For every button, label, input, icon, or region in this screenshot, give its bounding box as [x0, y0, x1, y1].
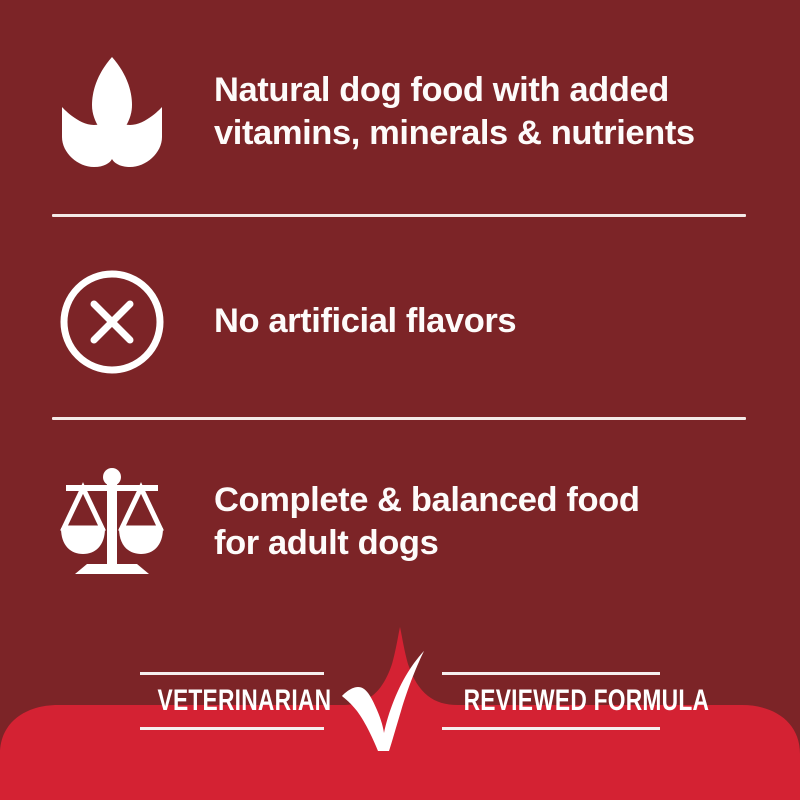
- feature-item-no-artificial-flavors: No artificial flavors: [52, 254, 748, 390]
- feature-item-natural-dog-food: Natural dog food with added vitamins, mi…: [52, 44, 748, 180]
- banner-left-block: VETERINARIAN: [134, 670, 330, 732]
- feature-label: Natural dog food with added vitamins, mi…: [172, 69, 748, 155]
- balance-scale-icon: [52, 457, 172, 587]
- banner-content: VETERINARIAN REVIEWED FORMULA: [0, 602, 800, 800]
- feature-item-complete-balanced: Complete & balanced food for adult dogs: [52, 454, 748, 590]
- product-benefits-panel: Natural dog food with added vitamins, mi…: [0, 0, 800, 800]
- leaf-sprout-icon: [52, 47, 172, 177]
- circle-x-icon: [52, 257, 172, 387]
- veterinarian-reviewed-banner: VETERINARIAN REVIEWED FORMULA: [0, 602, 800, 800]
- feature-label: No artificial flavors: [172, 300, 748, 343]
- checkmark-icon: [340, 646, 426, 756]
- banner-right-block: REVIEWED FORMULA: [436, 670, 666, 732]
- feature-divider: [52, 417, 746, 420]
- feature-label: Complete & balanced food for adult dogs: [172, 479, 748, 565]
- feature-divider: [52, 214, 746, 217]
- banner-left-label: VETERINARIAN: [158, 684, 307, 718]
- banner-right-label: REVIEWED FORMULA: [464, 684, 639, 718]
